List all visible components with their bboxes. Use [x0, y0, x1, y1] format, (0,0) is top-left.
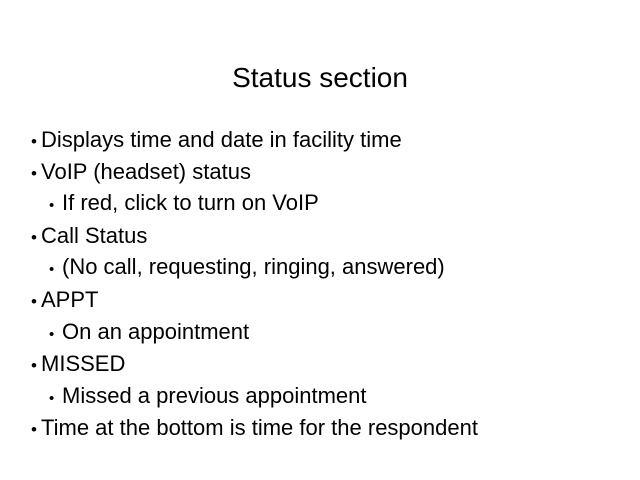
page-title: Status section	[0, 61, 640, 95]
bullet-list: •Displays time and date in facility time…	[0, 125, 640, 445]
bullet-item-label: On an appointment	[62, 319, 249, 344]
bullet-item-label: (No call, requesting, ringing, answered)	[62, 254, 445, 279]
bullet-item: •Displays time and date in facility time	[0, 125, 640, 157]
bullet-item: •Call Status	[0, 221, 640, 253]
bullet-point-icon: •	[49, 191, 59, 221]
bullet-item-label: APPT	[41, 287, 98, 312]
bullet-item: •Time at the bottom is time for the resp…	[0, 413, 640, 445]
presentation-slide: Status section •Displays time and date i…	[0, 0, 640, 480]
bullet-point-icon: •	[49, 320, 59, 350]
bullet-point-icon: •	[31, 351, 41, 381]
bullet-point-icon: •	[49, 255, 59, 285]
bullet-item: •Missed a previous appointment	[0, 381, 640, 414]
bullet-point-icon: •	[31, 223, 41, 253]
bullet-item-label: Time at the bottom is time for the respo…	[41, 415, 478, 440]
bullet-item-label: Missed a previous appointment	[62, 383, 367, 408]
bullet-item-label: Call Status	[41, 223, 147, 248]
bullet-point-icon: •	[31, 415, 41, 445]
bullet-item: •MISSED	[0, 349, 640, 381]
bullet-item: •VoIP (headset) status	[0, 157, 640, 189]
bullet-item-label: If red, click to turn on VoIP	[62, 190, 319, 215]
bullet-item-label: Displays time and date in facility time	[41, 127, 402, 152]
bullet-item-label: VoIP (headset) status	[41, 159, 251, 184]
bullet-point-icon: •	[49, 384, 59, 414]
bullet-point-icon: •	[31, 159, 41, 189]
bullet-item: •APPT	[0, 285, 640, 317]
bullet-item-label: MISSED	[41, 351, 125, 376]
bullet-point-icon: •	[31, 287, 41, 317]
bullet-item: •(No call, requesting, ringing, answered…	[0, 252, 640, 285]
bullet-point-icon: •	[31, 127, 41, 157]
bullet-item: •If red, click to turn on VoIP	[0, 188, 640, 221]
bullet-item: •On an appointment	[0, 317, 640, 350]
